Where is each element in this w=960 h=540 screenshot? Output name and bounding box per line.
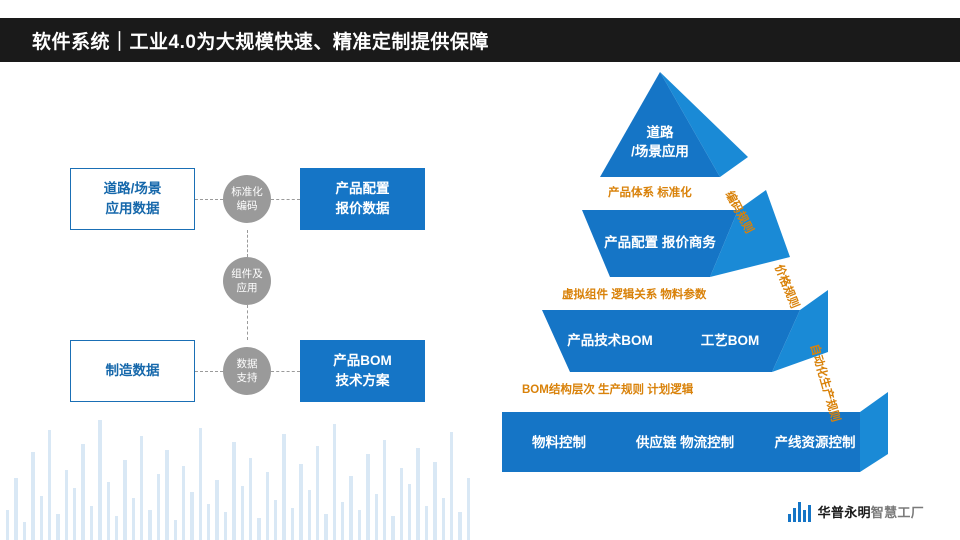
pyramid-tier-3-label-right: 工艺BOM bbox=[680, 332, 780, 351]
connector-node-line: 数据 bbox=[237, 357, 258, 371]
flow-box-line: 道路/场景 bbox=[104, 179, 162, 199]
pyramid-tier-4-label-3: 产线资源控制 bbox=[750, 434, 880, 453]
company-logo: 华普永明智慧工厂 bbox=[788, 500, 924, 522]
pyramid-tier-3-caption: BOM结构层次 生产规则 计划逻辑 bbox=[522, 381, 693, 397]
pyramid-label-line: /场景应用 bbox=[600, 143, 720, 162]
title-bar: 软件系统｜工业4.0为大规模快速、精准定制提供保障 bbox=[0, 18, 960, 62]
logo-brand: 华普永明 bbox=[818, 505, 871, 520]
connector-line bbox=[195, 199, 223, 200]
pyramid-tier-2-label: 产品配置 报价商务 bbox=[580, 234, 740, 253]
flow-diagram: 道路/场景 应用数据 产品配置 报价数据 制造数据 产品BOM 技术方案 标准化… bbox=[60, 150, 450, 410]
pyramid-tier-4-side bbox=[860, 392, 888, 472]
connector-node-standardization: 标准化 编码 bbox=[223, 175, 271, 223]
flow-box-bom-plan: 产品BOM 技术方案 bbox=[300, 340, 425, 402]
logo-text: 华普永明智慧工厂 bbox=[818, 502, 924, 521]
flow-box-road-data: 道路/场景 应用数据 bbox=[70, 168, 195, 230]
flow-box-line: 报价数据 bbox=[336, 199, 390, 219]
connector-line bbox=[247, 305, 248, 340]
connector-node-line: 编码 bbox=[237, 199, 258, 213]
pyramid-tier-4-label-2: 供应链 物流控制 bbox=[610, 434, 760, 453]
connector-node-line: 支持 bbox=[237, 371, 258, 385]
pyramid-tier-1-label: 道路 /场景应用 bbox=[600, 124, 720, 162]
logo-suffix: 智慧工厂 bbox=[871, 505, 924, 520]
connector-node-component: 组件及 应用 bbox=[223, 257, 271, 305]
pyramid-tier-3-label-left: 产品技术BOM bbox=[545, 332, 675, 351]
pyramid-tier-2-caption: 虚拟组件 逻辑关系 物料参数 bbox=[562, 286, 706, 302]
pyramid-label-line: 道路 bbox=[600, 124, 720, 143]
connector-node-line: 标准化 bbox=[231, 185, 263, 199]
flow-box-price-data: 产品配置 报价数据 bbox=[300, 168, 425, 230]
pyramid-diagram: 道路 /场景应用 产品配置 报价商务 产品技术BOM 工艺BOM 物料控制 供应… bbox=[470, 62, 940, 482]
page-title: 软件系统｜工业4.0为大规模快速、精准定制提供保障 bbox=[32, 27, 489, 54]
pyramid-tier-1-caption: 产品体系 标准化 bbox=[608, 184, 692, 200]
decorative-bar-pattern bbox=[0, 390, 470, 540]
flow-box-line: 产品BOM bbox=[333, 351, 392, 371]
flow-box-line: 技术方案 bbox=[336, 371, 390, 391]
connector-line bbox=[195, 371, 223, 372]
connector-node-line: 应用 bbox=[237, 281, 258, 295]
connector-line bbox=[271, 199, 300, 200]
connector-line bbox=[247, 230, 248, 257]
connector-node-data-support: 数据 支持 bbox=[223, 347, 271, 395]
logo-bars-icon bbox=[788, 500, 812, 522]
connector-node-line: 组件及 bbox=[231, 267, 263, 281]
pyramid-tier-4-label-1: 物料控制 bbox=[504, 434, 614, 453]
flow-box-line: 制造数据 bbox=[106, 361, 160, 381]
flow-box-line: 应用数据 bbox=[106, 199, 160, 219]
connector-line bbox=[271, 371, 300, 372]
flow-box-manufacturing-data: 制造数据 bbox=[70, 340, 195, 402]
flow-box-line: 产品配置 bbox=[336, 179, 390, 199]
